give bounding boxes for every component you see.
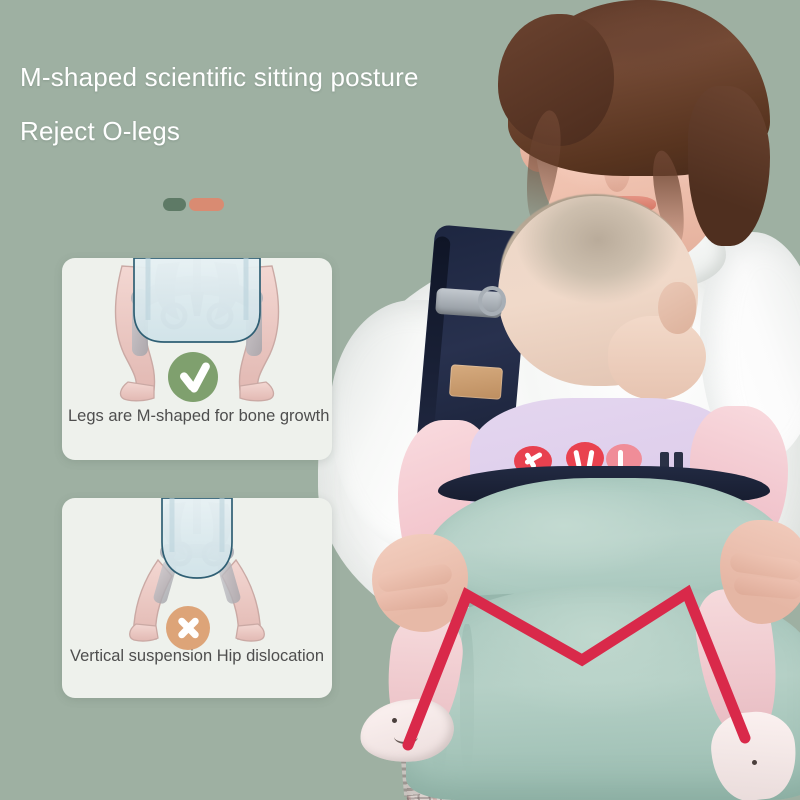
- anatomy-figure-vertical: [62, 498, 332, 646]
- headline-line-2: Reject O-legs: [20, 104, 490, 158]
- baby-sock-smile: [394, 730, 418, 744]
- mother-hair-side: [688, 86, 770, 246]
- baby-sock-eye-2: [412, 722, 417, 727]
- marker-dark-pill: [163, 198, 186, 211]
- headline: M-shaped scientific sitting posture Reje…: [20, 50, 490, 158]
- baby-sock-eye-1: [392, 718, 397, 723]
- info-card-incorrect[interactable]: Vertical suspension Hip dislocation: [62, 498, 332, 698]
- anatomy-figure-m-shape: [62, 258, 332, 406]
- headline-line-1: M-shaped scientific sitting posture: [20, 50, 490, 104]
- baby-ear: [658, 282, 696, 334]
- baby-sock-right-eye: [752, 760, 757, 765]
- check-stroke-long: [189, 361, 212, 394]
- check-icon: [168, 352, 218, 402]
- card-caption-incorrect: Vertical suspension Hip dislocation: [62, 646, 332, 666]
- decorative-markers: [163, 198, 224, 211]
- carrier-logo-patch: [449, 364, 503, 400]
- info-card-correct[interactable]: Legs are M-shaped for bone growth: [62, 258, 332, 460]
- marker-coral-pill: [189, 198, 224, 211]
- cross-icon: [166, 606, 210, 650]
- card-caption-correct: Legs are M-shaped for bone growth: [62, 406, 332, 426]
- promo-banner: M-shaped scientific sitting posture Reje…: [0, 0, 800, 800]
